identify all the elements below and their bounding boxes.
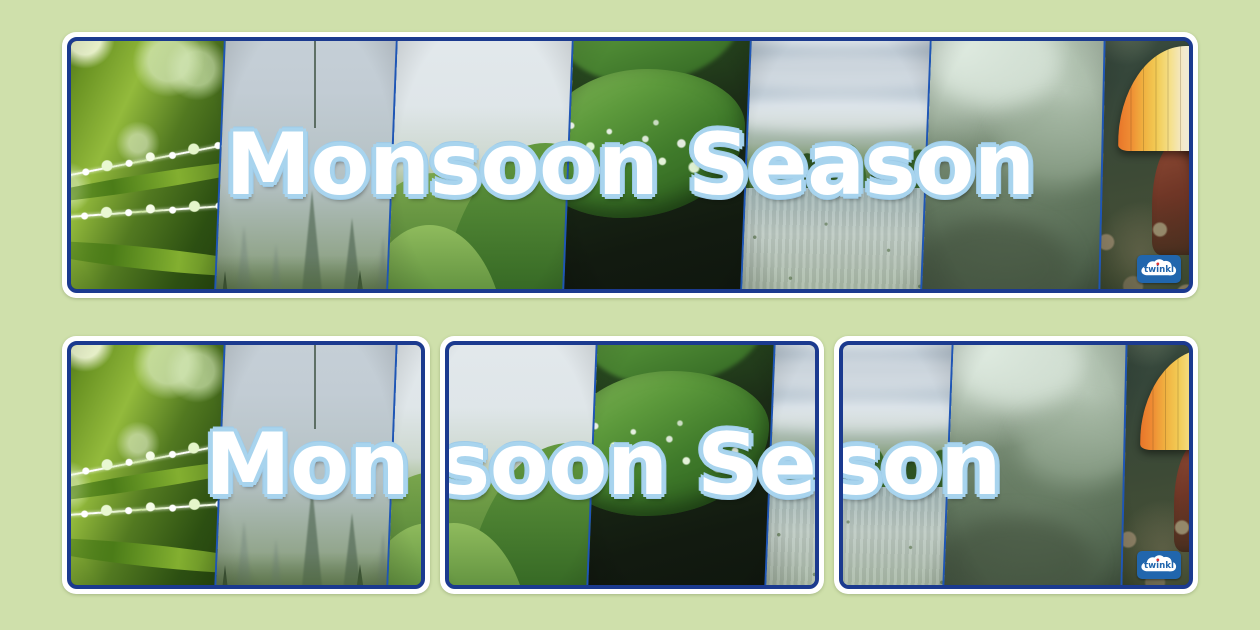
photo-dewy-grass — [71, 41, 233, 289]
photo-strip — [843, 345, 1189, 585]
banner-frame: Monsoon Season twinkl — [67, 37, 1193, 293]
photo-flooded-field — [741, 41, 939, 289]
banner-frame: soon Sea — [445, 341, 819, 589]
banner-section-2[interactable]: soon Sea — [440, 336, 824, 594]
photo-film — [71, 41, 1189, 289]
banner-section-1[interactable]: Mon — [62, 336, 430, 594]
banner-frame: Mon — [67, 341, 425, 589]
photo-storm-clouds — [943, 345, 1137, 585]
photo-film — [71, 345, 421, 585]
twinkl-cloud-icon: twinkl — [1139, 258, 1179, 280]
photo-umbrella — [1100, 41, 1189, 289]
full-display-banner[interactable]: Monsoon Season twinkl — [62, 32, 1198, 298]
photo-strip — [71, 345, 421, 585]
svg-text:twinkl: twinkl — [1144, 265, 1174, 275]
photo-strip — [71, 41, 1189, 289]
photo-flooded-field — [843, 345, 961, 585]
photo-wet-leaf — [587, 345, 783, 585]
banner-page: Monsoon Season twinkl — [0, 0, 1260, 630]
photo-storm-clouds — [921, 41, 1115, 289]
banner-frame: son twinkl — [839, 341, 1193, 589]
photo-green-hills — [387, 41, 581, 289]
photo-wet-leaf — [563, 41, 759, 289]
photo-film — [449, 345, 815, 585]
photo-misty-forest — [215, 345, 405, 585]
photo-umbrella — [1122, 345, 1189, 585]
twinkl-logo[interactable]: twinkl — [1137, 551, 1181, 579]
svg-text:twinkl: twinkl — [1144, 561, 1174, 571]
photo-green-hills — [449, 345, 605, 585]
twinkl-logo[interactable]: twinkl — [1137, 255, 1181, 283]
photo-film — [843, 345, 1189, 585]
photo-strip — [449, 345, 815, 585]
photo-dewy-grass — [71, 345, 233, 585]
twinkl-cloud-icon: twinkl — [1139, 554, 1179, 576]
banner-section-3[interactable]: son twinkl — [834, 336, 1198, 594]
photo-misty-forest — [215, 41, 405, 289]
